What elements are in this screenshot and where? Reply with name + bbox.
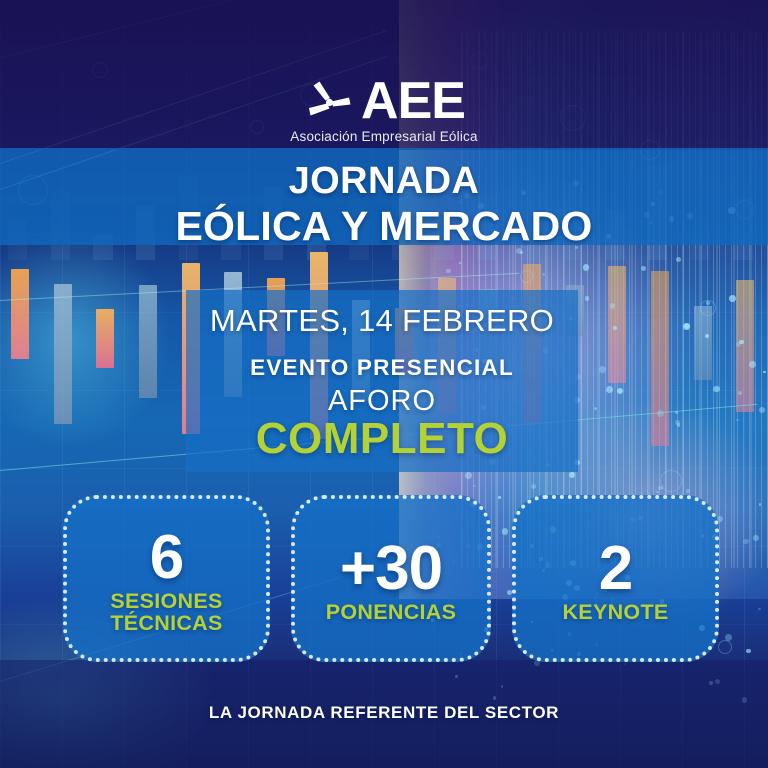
title-line-1: JORNADA [289, 160, 480, 202]
date-panel: MARTES, 14 FEBRERO EVENTO PRESENCIAL AFO… [186, 290, 578, 472]
stat-label-line-1: KEYNOTE [562, 600, 668, 624]
event-poster: AEE Asociación Empresarial Eólica JORNAD… [0, 0, 768, 768]
wind-turbine-icon [303, 76, 357, 128]
stat-number: 6 [150, 528, 183, 588]
stat-card-sesiones: 6 SESIONES TÉCNICAS [63, 495, 270, 662]
stat-label-line-1: SESIONES [110, 589, 222, 613]
logo-subtitle: Asociación Empresarial Eólica [290, 129, 477, 144]
stat-label: SESIONES TÉCNICAS [110, 591, 222, 635]
stat-number: +30 [340, 539, 442, 599]
footer-tagline: LA JORNADA REFERENTE DEL SECTOR [0, 703, 768, 723]
stat-label: PONENCIAS [326, 602, 457, 624]
stats-row: 6 SESIONES TÉCNICAS +30 PONENCIAS 2 KEYN… [63, 495, 719, 662]
capacity-status: COMPLETO [256, 414, 509, 464]
page-title: JORNADA EÓLICA Y MERCADO [0, 160, 768, 249]
stat-label-line-2: TÉCNICAS [110, 611, 222, 635]
title-line-2: EÓLICA Y MERCADO [0, 203, 768, 249]
aee-logo: AEE Asociación Empresarial Eólica [0, 76, 768, 144]
stat-card-ponencias: +30 PONENCIAS [291, 495, 491, 662]
stat-number: 2 [599, 539, 632, 599]
logo-wordmark: AEE [361, 78, 465, 126]
stat-label-line-1: PONENCIAS [326, 600, 457, 624]
stat-card-keynote: 2 KEYNOTE [512, 495, 719, 662]
event-type: EVENTO PRESENCIAL [250, 355, 514, 381]
stat-label: KEYNOTE [562, 602, 668, 624]
event-date: MARTES, 14 FEBRERO [210, 303, 554, 339]
